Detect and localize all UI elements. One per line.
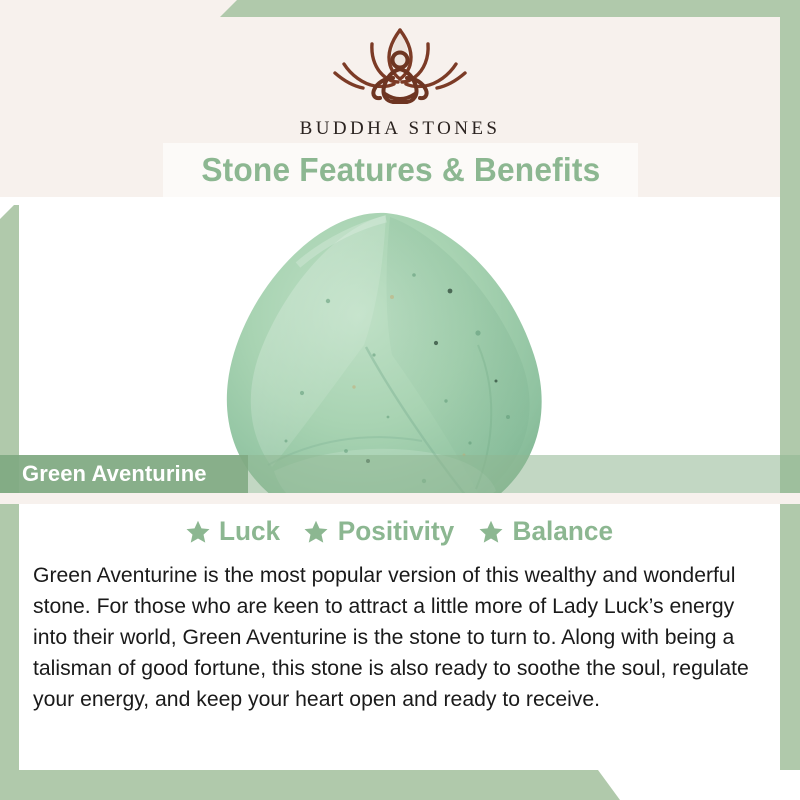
lotus-meditation-logo-icon — [315, 18, 485, 114]
star-icon — [303, 519, 329, 545]
frame-accent-bottom — [0, 770, 620, 800]
infographic-page: BUDDHA STONES — [0, 0, 800, 800]
title-banner: Stone Features & Benefits — [163, 143, 638, 197]
star-icon — [478, 519, 504, 545]
benefit-label: Positivity — [338, 516, 454, 547]
section-divider — [0, 493, 800, 504]
product-label: Green Aventurine — [22, 455, 207, 493]
frame-accent-right — [780, 0, 800, 770]
benefit-item: Positivity — [303, 516, 456, 547]
star-icon — [185, 519, 211, 545]
benefit-item: Luck — [185, 516, 281, 547]
frame-accent-top — [220, 0, 800, 17]
green-aventurine-stone-image — [178, 205, 598, 493]
product-description: Green Aventurine is the most popular ver… — [33, 560, 762, 715]
product-image — [0, 197, 800, 493]
benefit-label: Luck — [219, 516, 280, 547]
benefits-row: Luck Positivity Balance — [0, 516, 800, 547]
benefit-label: Balance — [513, 516, 613, 547]
brand-logo: BUDDHA STONES — [0, 18, 800, 140]
benefit-item: Balance — [478, 516, 615, 547]
brand-name: BUDDHA STONES — [300, 118, 501, 140]
page-title: Stone Features & Benefits — [201, 151, 600, 189]
